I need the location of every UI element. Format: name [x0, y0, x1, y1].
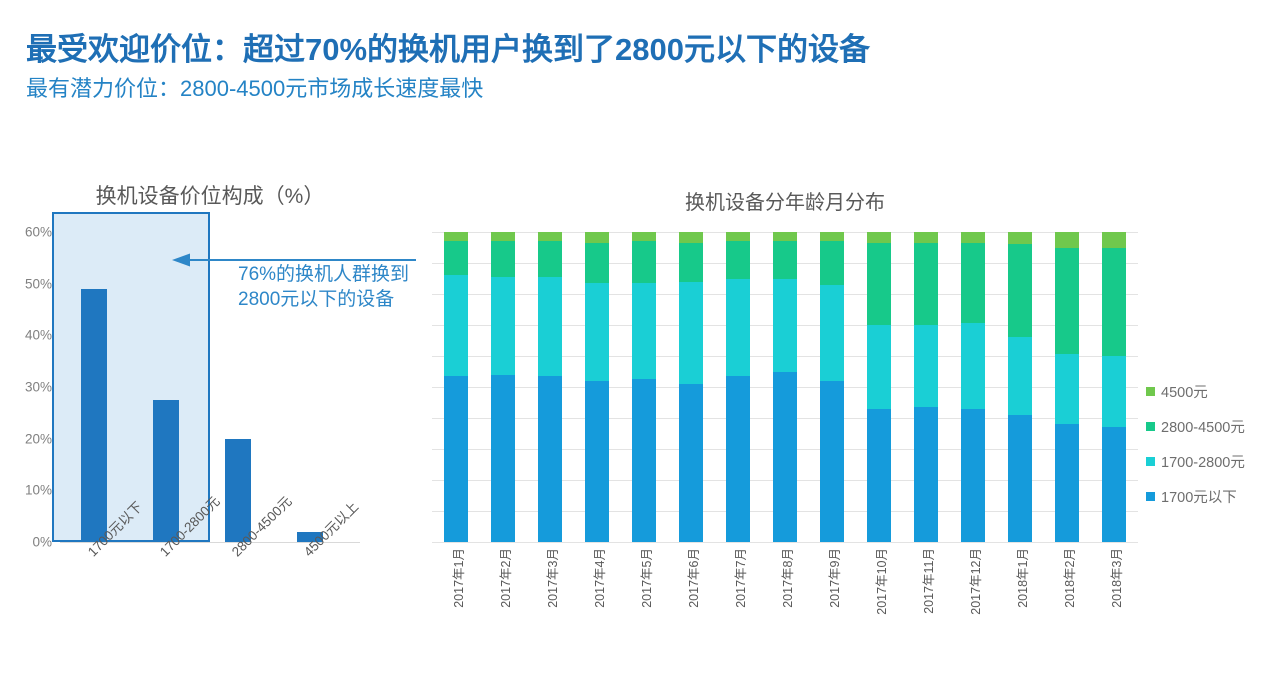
left-y-tick: 50%: [25, 276, 52, 291]
stacked-bar-segment: [632, 283, 656, 379]
stacked-bar-segment: [1008, 337, 1032, 415]
right-x-label: 2017年4月: [589, 548, 608, 608]
stacked-bar[interactable]: [679, 232, 703, 542]
page-title: 最受欢迎价位：超过70%的换机用户换到了2800元以下的设备: [26, 32, 870, 68]
right-x-label: 2017年8月: [777, 548, 796, 608]
left-bar[interactable]: [81, 289, 107, 542]
legend-item-label: 4500元: [1161, 381, 1208, 402]
stacked-bar[interactable]: [961, 232, 985, 542]
stacked-bar-segment: [491, 277, 515, 375]
right-x-label: 2017年5月: [636, 548, 655, 608]
stacked-bar[interactable]: [538, 232, 562, 542]
legend-item[interactable]: 1700元以下: [1146, 486, 1245, 507]
stacked-bar[interactable]: [726, 232, 750, 542]
right-x-label: 2017年3月: [542, 548, 561, 608]
page-subtitle: 最有潜力价位：2800-4500元市场成长速度最快: [26, 76, 870, 102]
left-chart-title: 换机设备价位构成（%）: [60, 180, 360, 210]
stacked-bar-segment: [491, 241, 515, 277]
stacked-bar[interactable]: [444, 232, 468, 542]
stacked-bar-segment: [444, 232, 468, 241]
right-chart-title: 换机设备分年龄月分布: [420, 186, 1150, 215]
stacked-bar-segment: [1008, 415, 1032, 542]
stacked-bar[interactable]: [491, 232, 515, 542]
right-x-label: 2017年1月: [448, 548, 467, 608]
right-x-label: 2017年11月: [918, 548, 937, 614]
legend-swatch-icon: [1146, 387, 1155, 396]
stacked-bar-segment: [820, 285, 844, 381]
stacked-bar-segment: [632, 379, 656, 542]
stacked-bar-segment: [773, 279, 797, 372]
right-x-label: 2018年1月: [1012, 548, 1031, 608]
stacked-bar-segment: [914, 407, 938, 542]
legend-swatch-icon: [1146, 492, 1155, 501]
stacked-bar[interactable]: [773, 232, 797, 542]
stacked-bar-segment: [726, 232, 750, 241]
headline-block: 最受欢迎价位：超过70%的换机用户换到了2800元以下的设备 最有潜力价位：28…: [26, 32, 870, 102]
stacked-bar-segment: [1102, 427, 1126, 542]
legend-swatch-icon: [1146, 422, 1155, 431]
stacked-bar-segment: [679, 384, 703, 542]
stacked-bar-segment: [444, 376, 468, 542]
stacked-bar-segment: [538, 232, 562, 241]
legend-item[interactable]: 1700-2800元: [1146, 451, 1245, 472]
right-plot-area: [432, 232, 1138, 542]
stacked-bar-segment: [444, 275, 468, 376]
left-y-tick: 20%: [25, 431, 52, 446]
stacked-bar-segment: [726, 241, 750, 278]
stacked-bar[interactable]: [1055, 232, 1079, 542]
stacked-bar-segment: [1055, 424, 1079, 542]
stacked-bar-segment: [538, 376, 562, 542]
stacked-bar-segment: [1102, 232, 1126, 248]
stacked-bar-segment: [961, 409, 985, 542]
right-gridline: [432, 542, 1138, 543]
stacked-bar-segment: [1008, 232, 1032, 244]
right-x-label: 2017年2月: [495, 548, 514, 608]
stacked-bar-segment: [491, 232, 515, 241]
legend-item-label: 1700-2800元: [1161, 451, 1245, 472]
stacked-bar-segment: [585, 381, 609, 542]
left-y-tick: 30%: [25, 380, 52, 395]
stacked-bar-segment: [585, 243, 609, 283]
stacked-bar-segment: [632, 232, 656, 241]
stacked-bar[interactable]: [585, 232, 609, 542]
right-x-label: 2017年9月: [824, 548, 843, 608]
stacked-bar-segment: [679, 232, 703, 243]
stacked-bar-segment: [820, 232, 844, 241]
stacked-bar-segment: [726, 376, 750, 542]
stacked-bar-segment: [773, 241, 797, 278]
stacked-bar-segment: [914, 232, 938, 243]
left-y-tick: 0%: [32, 535, 52, 550]
stacked-bar-segment: [1055, 248, 1079, 355]
stacked-bar-segment: [1055, 354, 1079, 424]
stacked-bar-segment: [1102, 356, 1126, 427]
stacked-bar-segment: [820, 241, 844, 284]
stacked-bar-segment: [491, 375, 515, 542]
stacked-bar-segment: [773, 372, 797, 543]
stacked-bar-segment: [632, 241, 656, 283]
stacked-bar[interactable]: [632, 232, 656, 542]
left-y-tick: 40%: [25, 328, 52, 343]
stacked-bar[interactable]: [1008, 232, 1032, 542]
stacked-bar-segment: [867, 325, 891, 409]
legend-item-label: 2800-4500元: [1161, 416, 1245, 437]
stacked-bar[interactable]: [914, 232, 938, 542]
stacked-bar-segment: [444, 241, 468, 275]
right-x-label: 2017年10月: [871, 548, 890, 615]
stacked-bar-segment: [1008, 244, 1032, 337]
right-x-label: 2017年7月: [730, 548, 749, 608]
stacked-bar-segment: [585, 283, 609, 381]
stacked-bar-segment: [961, 323, 985, 408]
right-x-label: 2017年6月: [683, 548, 702, 608]
stacked-bar-segment: [726, 279, 750, 377]
right-x-label: 2018年3月: [1106, 548, 1125, 608]
stacked-bar-segment: [1102, 248, 1126, 357]
stacked-bar-segment: [867, 409, 891, 542]
legend-item-label: 1700元以下: [1161, 486, 1237, 507]
stacked-bar-segment: [867, 232, 891, 243]
stacked-bar-segment: [538, 277, 562, 376]
chart-legend: 4500元2800-4500元1700-2800元1700元以下: [1146, 381, 1245, 521]
stacked-bar-segment: [773, 232, 797, 241]
stacked-bar-segment: [914, 325, 938, 407]
stacked-bar[interactable]: [820, 232, 844, 542]
stacked-bar-segment: [679, 243, 703, 282]
left-y-tick: 60%: [25, 225, 52, 240]
right-x-label: 2018年2月: [1059, 548, 1078, 608]
stacked-bar-segment: [961, 243, 985, 324]
stacked-bar-segment: [585, 232, 609, 243]
left-bar[interactable]: [153, 400, 179, 542]
left-y-tick: 10%: [25, 483, 52, 498]
legend-swatch-icon: [1146, 457, 1155, 466]
callout-text: 76%的换机人群换到2800元以下的设备: [238, 262, 413, 312]
stacked-bar-segment: [538, 241, 562, 277]
legend-item[interactable]: 2800-4500元: [1146, 416, 1245, 437]
stacked-bar[interactable]: [1102, 232, 1126, 542]
stacked-bar-segment: [961, 232, 985, 243]
stacked-bar-segment: [867, 243, 891, 325]
legend-item[interactable]: 4500元: [1146, 381, 1245, 402]
stacked-bar[interactable]: [867, 232, 891, 542]
stacked-bar-segment: [679, 282, 703, 384]
age-month-distribution-chart: 换机设备分年龄月分布 2017年1月2017年2月2017年3月2017年4月2…: [420, 180, 1150, 650]
slide-canvas: 最受欢迎价位：超过70%的换机用户换到了2800元以下的设备 最有潜力价位：28…: [0, 0, 1268, 684]
stacked-bar-segment: [914, 243, 938, 325]
right-x-label: 2017年12月: [965, 548, 984, 615]
stacked-bar-segment: [820, 381, 844, 542]
stacked-bar-segment: [1055, 232, 1079, 248]
